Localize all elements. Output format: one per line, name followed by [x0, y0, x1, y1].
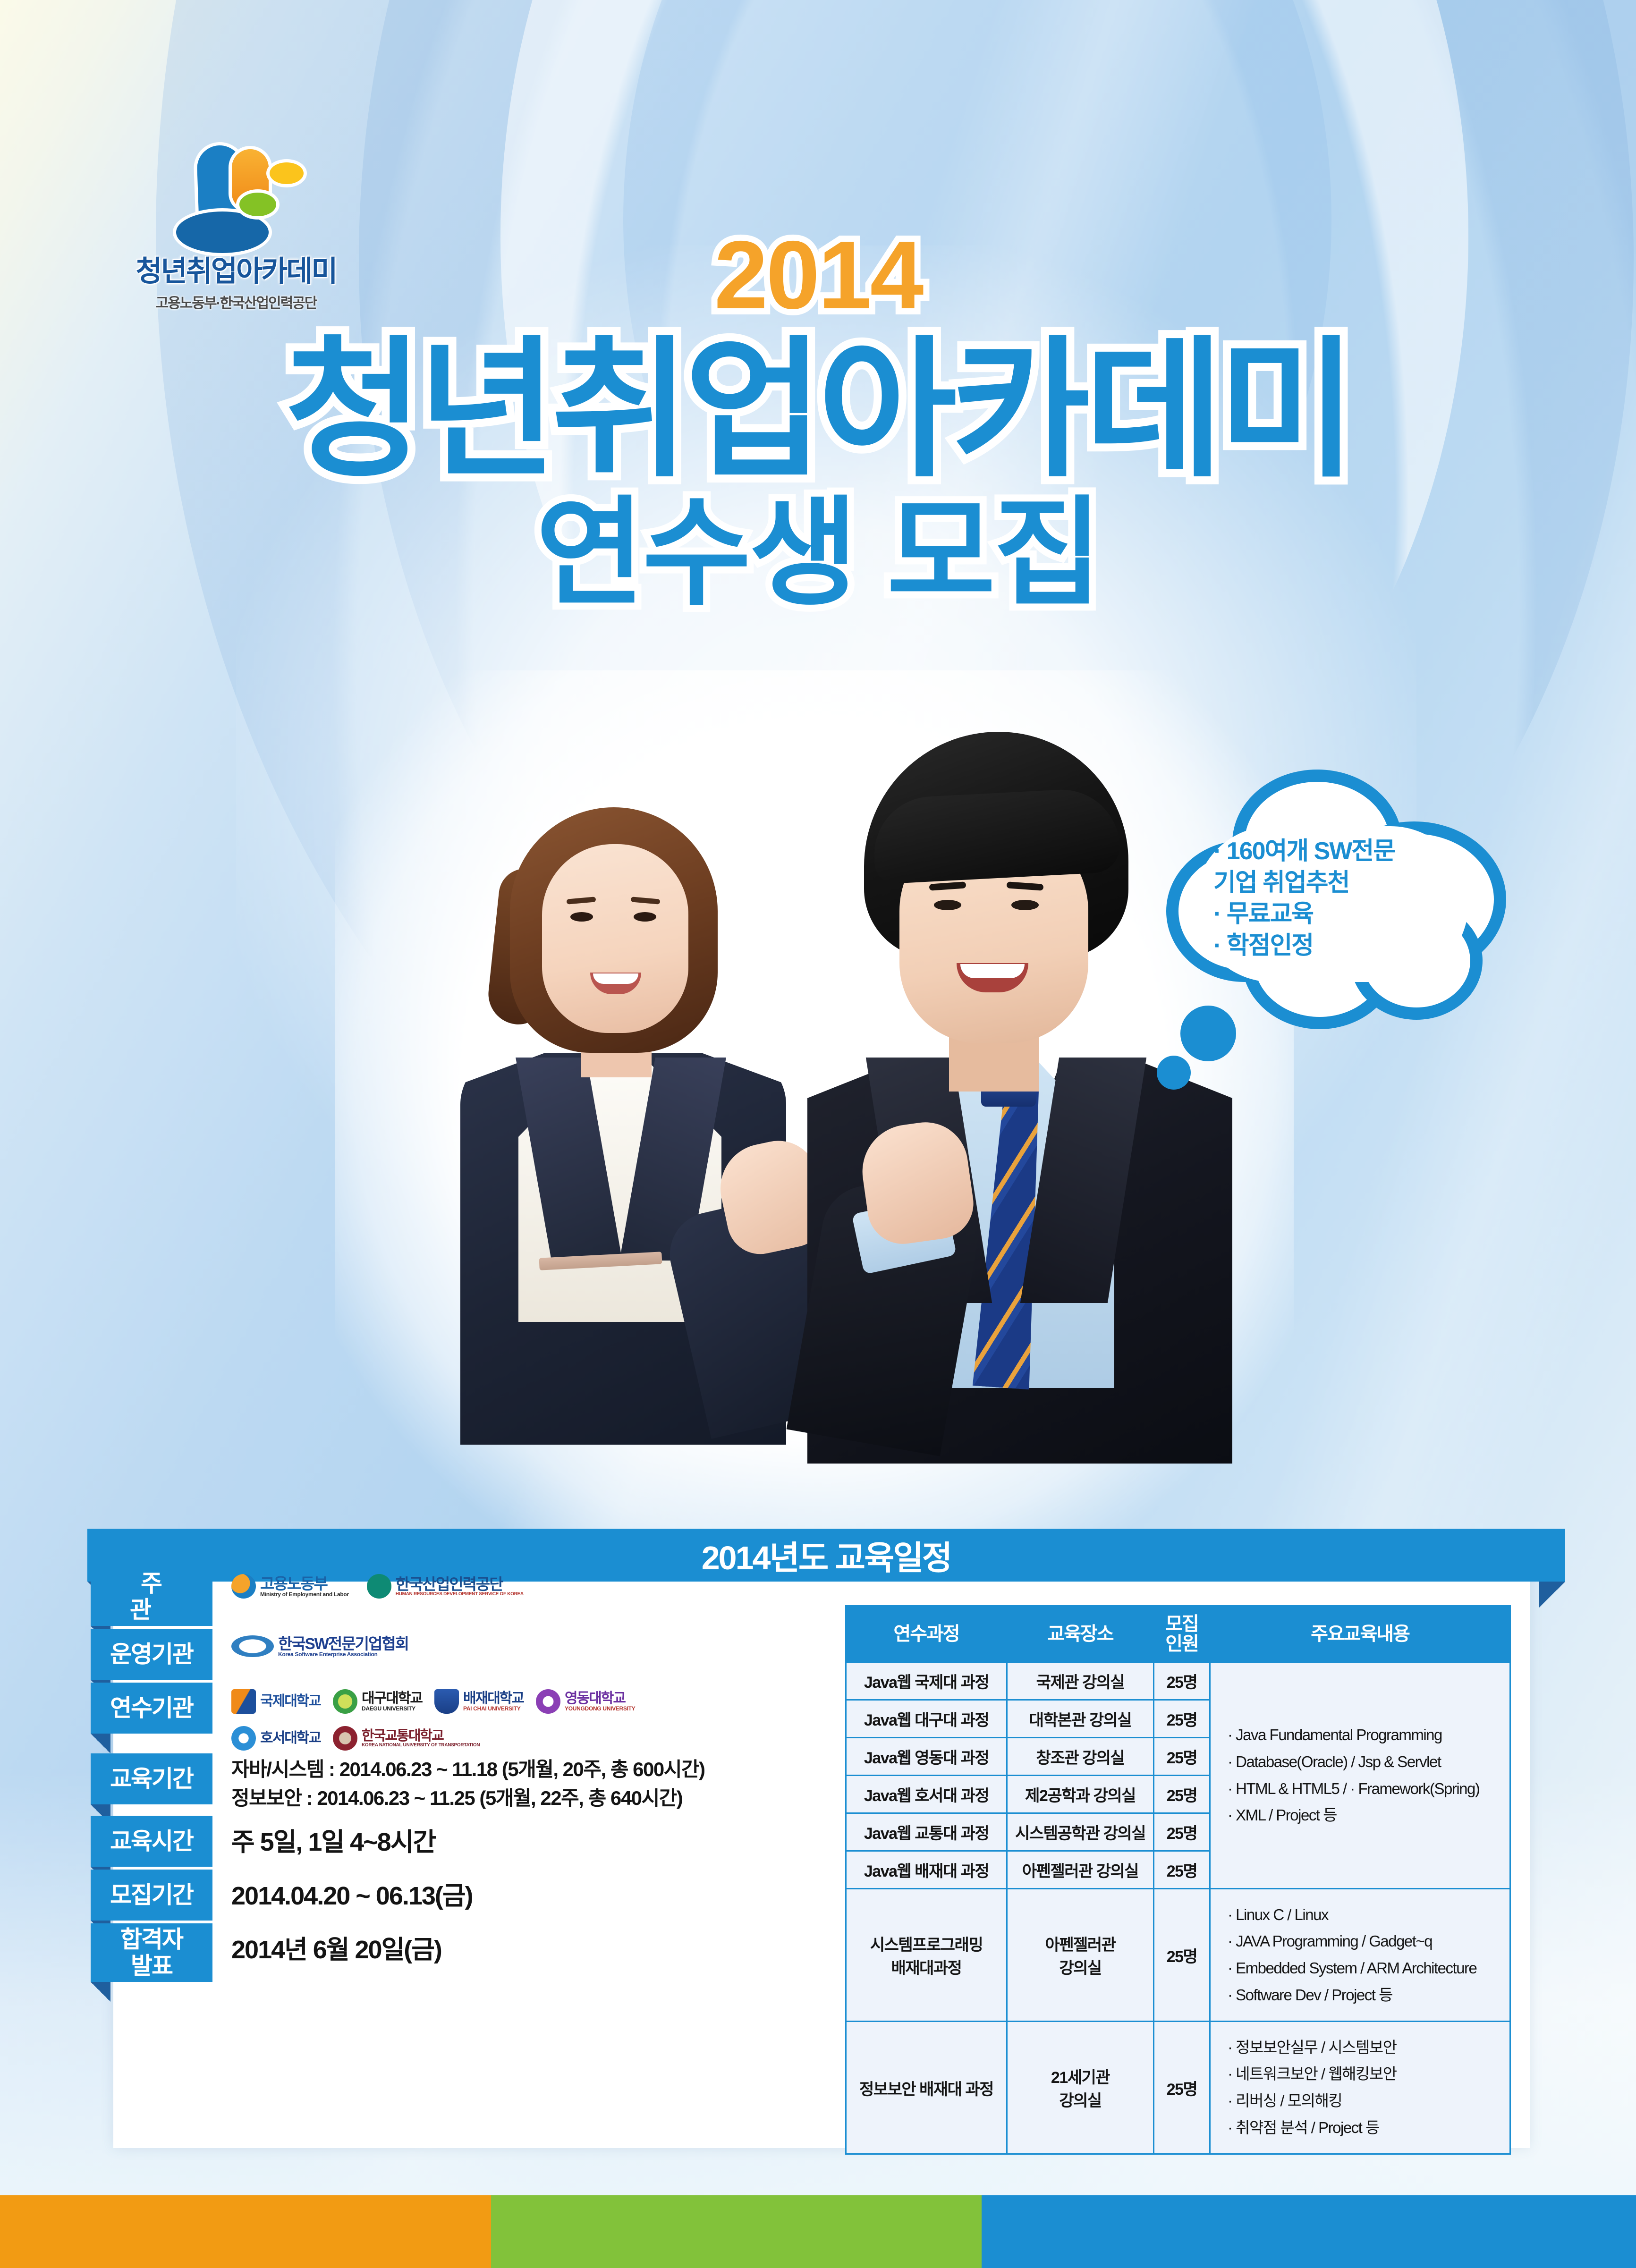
headline-block: 2014 청년취업아카데미 연수생 모집 — [0, 227, 1636, 616]
woman-eye-right — [634, 912, 656, 922]
footer-bar-blue — [982, 2195, 1636, 2268]
java-content-line-1: · Java Fundamental Programming — [1228, 1722, 1507, 1749]
man-eye-right — [1011, 900, 1039, 910]
logo-chip-daegu: 대구대학교 DAEGU UNIVERSITY — [333, 1689, 422, 1714]
cell-place: 창조관 강의실 — [1007, 1738, 1154, 1776]
info-label-period: 교육기간 — [91, 1753, 212, 1804]
hoseo-kr: 호서대학교 — [260, 1731, 321, 1745]
youngdong-mark-icon — [536, 1689, 560, 1714]
knut-en: KOREA NATIONAL UNIVERSITY OF TRANSPORTAT… — [362, 1743, 480, 1748]
knut-kr: 한국교통대학교 — [362, 1729, 480, 1743]
info-value-application: 2014.04.20 ~ 06.13(금) — [212, 1870, 737, 1913]
period-line-security: 정보보안 : 2014.06.23 ~ 11.25 (5개월, 22주, 총 6… — [231, 1784, 737, 1813]
logo-chip-hoseo: 호서대학교 — [231, 1726, 321, 1751]
man-eye-left — [934, 900, 961, 910]
info-label-hours: 교육시간 — [91, 1816, 212, 1867]
info-value-period: 자바/시스템 : 2014.06.23 ~ 11.18 (5개월, 20주, 총… — [212, 1753, 737, 1813]
banner-fold-right — [1539, 1582, 1565, 1608]
schedule-banner-title: 2014년도 교육일정 — [702, 1532, 951, 1579]
cell-quota: 25명 — [1154, 1776, 1210, 1813]
info-row-application: 모집기간 2014.04.20 ~ 06.13(금) — [0, 1870, 737, 1921]
youngdong-en: YOUNGDONG UNIVERSITY — [565, 1706, 635, 1711]
paichai-kr: 배재대학교 — [463, 1692, 524, 1706]
info-row-operator: 운영기관 한국SW전문기업협회 Korea Software Enterpris… — [0, 1629, 737, 1680]
daegu-en: DAEGU UNIVERSITY — [362, 1706, 422, 1711]
info-row-host: 주 관 고용노동부 Ministry of Employment and Lab… — [0, 1567, 737, 1626]
cell-place: 국제관 강의실 — [1007, 1662, 1154, 1700]
knut-mark-icon — [333, 1726, 357, 1751]
paichai-mark-icon — [434, 1689, 459, 1714]
cloud-benefit-line-4: · 학점인정 — [1213, 930, 1478, 962]
logo-chip-kosea: 한국SW전문기업협회 Korea Software Enterprise Ass… — [231, 1635, 408, 1657]
operator-logos: 한국SW전문기업협회 Korea Software Enterprise Ass… — [212, 1629, 408, 1657]
th-quota-line-1: 모집 — [1156, 1614, 1207, 1634]
table-row-security: 정보보안 배재대 과정 21세기관 강의실 25명 · 정보보안실무 / 시스템… — [846, 2022, 1510, 2154]
sysprog-content-line-1: · Linux C / Linux — [1228, 1902, 1507, 1929]
footer-bar-orange — [0, 2195, 491, 2268]
info-rows: 주 관 고용노동부 Ministry of Employment and Lab… — [0, 1567, 737, 1985]
table-header-row: 연수과정 교육장소 모집 인원 주요교육내용 — [846, 1606, 1510, 1662]
security-content-line-1: · 정보보안실무 / 시스템보안 — [1228, 2034, 1507, 2061]
info-label-result: 합격자 발표 — [91, 1923, 212, 1982]
java-content-line-3: · HTML & HTML5 / · Framework(Spring) — [1228, 1776, 1507, 1803]
cell-security-place: 21세기관 강의실 — [1007, 2022, 1154, 2154]
sysprog-course-line-1: 시스템프로그래밍 — [849, 1932, 1003, 1955]
sysprog-course-line-2: 배재대과정 — [849, 1955, 1003, 1978]
headline-year: 2014 — [0, 227, 1636, 323]
cell-security-content: · 정보보안실무 / 시스템보안 · 네트워크보안 / 웹해킹보안 · 리버싱 … — [1210, 2022, 1510, 2154]
cell-sysprog-content: · Linux C / Linux · JAVA Programming / G… — [1210, 1889, 1510, 2022]
th-quota-line-2: 인원 — [1156, 1634, 1207, 1654]
youngdong-kr: 영동대학교 — [565, 1692, 635, 1706]
molab-mark-icon — [231, 1574, 256, 1599]
table-row-sysprog: 시스템프로그래밍 배재대과정 아펜젤러관 강의실 25명 · Linux C /… — [846, 1889, 1510, 2022]
headline-line-2: 연수생 모집 — [0, 491, 1636, 616]
schedule-table: 연수과정 교육장소 모집 인원 주요교육내용 Java웹 국제대 과정 국제관 … — [845, 1605, 1511, 2155]
cloud-benefit-line-3: · 무료교육 — [1213, 898, 1478, 930]
cloud-benefit-list: · 160여개 SW전문 기업 취업추천 · 무료교육 · 학점인정 — [1213, 836, 1478, 961]
cell-java-content: · Java Fundamental Programming · Databas… — [1210, 1662, 1510, 1889]
info-value-result: 2014년 6월 20일(금) — [212, 1923, 737, 1967]
cloud-benefit-line-2: 기업 취업추천 — [1213, 867, 1478, 899]
cell-quota: 25명 — [1154, 1662, 1210, 1700]
sysprog-content-line-3: · Embedded System / ARM Architecture — [1228, 1955, 1507, 1982]
cell-course: Java웹 호서대 과정 — [846, 1776, 1007, 1813]
footer-bar-green — [491, 2195, 982, 2268]
th-content: 주요교육내용 — [1210, 1606, 1510, 1662]
host-logos: 고용노동부 Ministry of Employment and Labor 한… — [212, 1567, 524, 1599]
sysprog-place-line-2: 강의실 — [1010, 1955, 1150, 1978]
molab-kr: 고용노동부 — [260, 1576, 349, 1591]
security-place-line-1: 21세기관 — [1010, 2065, 1150, 2088]
cloud-tail-small — [1157, 1056, 1191, 1090]
cell-security-course: 정보보안 배재대 과정 — [846, 2022, 1007, 2154]
cell-quota: 25명 — [1154, 1851, 1210, 1889]
cell-quota: 25명 — [1154, 1700, 1210, 1738]
hrdkorea-mark-icon — [367, 1574, 391, 1599]
cell-sysprog-quota: 25명 — [1154, 1889, 1210, 2022]
woman-eye-left — [570, 912, 593, 922]
logo-chip-paichai: 배재대학교 PAI CHAI UNIVERSITY — [434, 1689, 524, 1714]
info-row-period: 교육기간 자바/시스템 : 2014.06.23 ~ 11.18 (5개월, 2… — [0, 1753, 737, 1813]
th-course: 연수과정 — [846, 1606, 1007, 1662]
hrdkorea-kr: 한국산업인력공단 — [396, 1576, 524, 1592]
headline-line-1: 청년취업아카데미 — [0, 333, 1636, 487]
th-place: 교육장소 — [1007, 1606, 1154, 1662]
cell-sysprog-course: 시스템프로그래밍 배재대과정 — [846, 1889, 1007, 2022]
java-content-line-2: · Database(Oracle) / Jsp & Servlet — [1228, 1749, 1507, 1776]
cloud-tail-large — [1180, 1006, 1236, 1061]
logo-chip-knut: 한국교통대학교 KOREA NATIONAL UNIVERSITY OF TRA… — [333, 1726, 480, 1751]
th-quota: 모집 인원 — [1154, 1606, 1210, 1662]
java-content-line-4: · XML / Project 등 — [1228, 1802, 1507, 1829]
info-label-universities: 연수기관 — [91, 1683, 212, 1734]
cell-course: Java웹 교통대 과정 — [846, 1813, 1007, 1851]
info-label-application: 모집기간 — [91, 1870, 212, 1921]
security-place-line-2: 강의실 — [1010, 2088, 1150, 2111]
table-row: Java웹 국제대 과정 국제관 강의실 25명 · Java Fundamen… — [846, 1662, 1510, 1700]
man-hair-fringe — [872, 787, 1121, 885]
sysprog-content-line-2: · JAVA Programming / Gadget~q — [1228, 1928, 1507, 1955]
daegu-mark-icon — [333, 1689, 357, 1714]
hero-photo — [392, 727, 1237, 1539]
paichai-en: PAI CHAI UNIVERSITY — [463, 1706, 524, 1711]
cell-place: 시스템공학관 강의실 — [1007, 1813, 1154, 1851]
cell-place: 제2공학과 강의실 — [1007, 1776, 1154, 1813]
info-label-host: 주 관 — [91, 1567, 212, 1626]
logo-chip-molab: 고용노동부 Ministry of Employment and Labor — [231, 1574, 349, 1599]
result-label-line-2: 발표 — [120, 1953, 183, 1979]
logo-chip-hrdkorea: 한국산업인력공단 HUMAN RESOURCES DEVELOPMENT SER… — [367, 1574, 524, 1599]
info-label-operator: 운영기관 — [91, 1629, 212, 1680]
logo-yellow-dot-icon — [270, 162, 304, 184]
cell-quota: 25명 — [1154, 1738, 1210, 1776]
cell-security-quota: 25명 — [1154, 2022, 1210, 2154]
woman-face — [542, 844, 688, 1033]
kosea-kr: 한국SW전문기업협회 — [278, 1636, 408, 1651]
benefits-thought-cloud: · 160여개 SW전문 기업 취업추천 · 무료교육 · 학점인정 — [1166, 770, 1516, 1034]
kookje-kr: 국제대학교 — [260, 1694, 321, 1709]
cell-sysprog-place: 아펜젤러관 강의실 — [1007, 1889, 1154, 2022]
cell-course: Java웹 배재대 과정 — [846, 1851, 1007, 1889]
security-content-line-3: · 리버싱 / 모의해킹 — [1228, 2088, 1507, 2115]
molab-en: Ministry of Employment and Labor — [260, 1591, 349, 1597]
cell-course: Java웹 대구대 과정 — [846, 1700, 1007, 1738]
result-label-line-1: 합격자 — [120, 1926, 183, 1953]
university-logos: 국제대학교 대구대학교 DAEGU UNIVERSITY 배재대학교 PAI C… — [212, 1683, 737, 1751]
cell-place: 아펜젤러관 강의실 — [1007, 1851, 1154, 1889]
security-content-line-2: · 네트워크보안 / 웹해킹보안 — [1228, 2061, 1507, 2088]
logo-green-dot-icon — [239, 193, 276, 216]
kookje-mark-icon — [231, 1689, 256, 1714]
hoseo-mark-icon — [231, 1726, 256, 1751]
footer-color-bars — [0, 2195, 1636, 2268]
kosea-mark-icon — [231, 1635, 274, 1657]
info-row-universities: 연수기관 국제대학교 대구대학교 DAEGU UNIVERSITY 배재대학교 … — [0, 1683, 737, 1751]
cell-course: Java웹 국제대 과정 — [846, 1662, 1007, 1700]
logo-chip-kookje: 국제대학교 — [231, 1689, 321, 1714]
sysprog-place-line-1: 아펜젤러관 — [1010, 1932, 1150, 1955]
info-value-hours: 주 5일, 1일 4~8시간 — [212, 1816, 737, 1859]
security-content-line-4: · 취약점 분석 / Project 등 — [1228, 2115, 1507, 2141]
cell-quota: 25명 — [1154, 1813, 1210, 1851]
cell-course: Java웹 영동대 과정 — [846, 1738, 1007, 1776]
logo-chip-youngdong: 영동대학교 YOUNGDONG UNIVERSITY — [536, 1689, 635, 1714]
info-row-hours: 교육시간 주 5일, 1일 4~8시간 — [0, 1816, 737, 1867]
cell-place: 대학본관 강의실 — [1007, 1700, 1154, 1738]
hrdkorea-en: HUMAN RESOURCES DEVELOPMENT SERVICE OF K… — [396, 1592, 524, 1597]
period-line-java: 자바/시스템 : 2014.06.23 ~ 11.18 (5개월, 20주, 총… — [231, 1755, 737, 1784]
daegu-kr: 대구대학교 — [362, 1692, 422, 1706]
info-row-result: 합격자 발표 2014년 6월 20일(금) — [0, 1923, 737, 1982]
sysprog-content-line-4: · Software Dev / Project 등 — [1228, 1982, 1507, 2009]
poster-root: 청년취업아카데미 고용노동부·한국산업인력공단 2014 청년취업아카데미 연수… — [0, 0, 1636, 2268]
cloud-benefit-line-1: · 160여개 SW전문 — [1213, 836, 1478, 867]
